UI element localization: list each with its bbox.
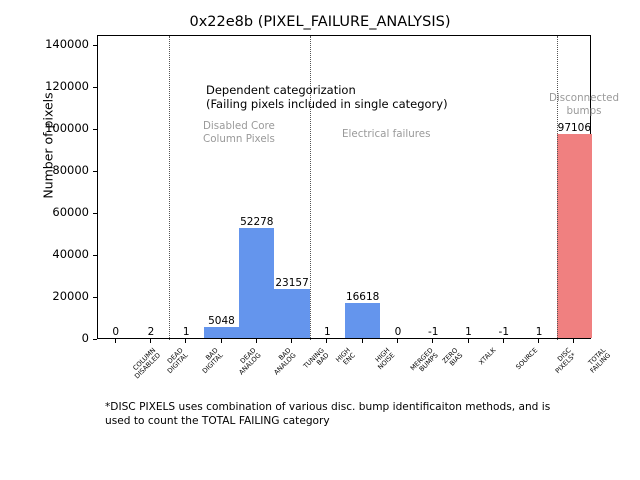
- x-tick-mark: [397, 339, 398, 343]
- figure-canvas: 0x22e8b (PIXEL_FAILURE_ANALYSIS) Number …: [0, 0, 640, 480]
- x-tick-label: XTALK: [477, 347, 496, 366]
- bar: [557, 134, 592, 338]
- x-tick-label: HIGHNOISE: [372, 347, 396, 371]
- y-tick-label: 120000: [9, 79, 89, 93]
- x-tick-mark: [150, 339, 151, 343]
- x-tick-mark: [468, 339, 469, 343]
- y-tick-label: 140000: [9, 37, 89, 51]
- category-divider-line: [557, 36, 558, 340]
- x-tick-label: ZEROBIAS: [442, 347, 465, 370]
- annotation-electrical-failures: Electrical failures: [342, 128, 431, 141]
- y-tick-label: 60000: [9, 205, 89, 219]
- bar-value-label: 1: [297, 326, 357, 338]
- bar-value-label: 1: [156, 326, 216, 338]
- x-tick-label: COLUMNDISABLED: [128, 347, 162, 381]
- x-tick-label: SOURCE: [515, 347, 539, 371]
- x-tick-mark: [326, 339, 327, 343]
- x-tick-mark: [185, 339, 186, 343]
- x-tick-label: TOTALFAILING: [585, 347, 613, 375]
- bar-value-label: 23157: [262, 277, 322, 289]
- y-tick-label: 20000: [9, 289, 89, 303]
- x-tick-mark: [432, 339, 433, 343]
- plot-inner: 021504852278231571166180-11-1197106: [98, 36, 590, 338]
- x-tick-mark: [115, 339, 116, 343]
- x-tick-label: DEADDIGITAL: [161, 347, 189, 375]
- y-tick-mark: [93, 339, 97, 340]
- x-tick-label: BADDIGITAL: [197, 347, 225, 375]
- x-tick-label: DEADANALOG: [233, 347, 263, 377]
- category-divider-line: [169, 36, 170, 340]
- footnote-text: *DISC PIXELS uses combination of various…: [105, 400, 560, 428]
- x-tick-label: BADANALOG: [268, 347, 298, 377]
- y-tick-label: 0: [9, 331, 89, 345]
- x-tick-mark: [291, 339, 292, 343]
- annotation-disabled-core-column-pixels: Disabled Core Column Pixels: [203, 120, 275, 146]
- bar-value-label: 16618: [333, 291, 393, 303]
- x-tick-label: HIGHENC: [335, 347, 357, 369]
- x-tick-mark: [538, 339, 539, 343]
- x-tick-mark: [503, 339, 504, 343]
- x-tick-label: DISCPIXELS*: [550, 347, 578, 375]
- x-tick-mark: [573, 339, 574, 343]
- annotation-dependent-categorization: Dependent categorization (Failing pixels…: [206, 83, 448, 112]
- bar-value-label: 97106: [544, 122, 604, 134]
- x-tick-mark: [221, 339, 222, 343]
- x-tick-label: TUNINGBAD: [303, 347, 331, 375]
- category-divider-line: [310, 36, 311, 340]
- bar-value-label: 5048: [192, 315, 252, 327]
- x-tick-label: MERGEDBUMPS: [409, 347, 439, 377]
- annotation-disconnected-bumps: Disconnected bumps: [539, 92, 629, 118]
- page-title: 0x22e8b (PIXEL_FAILURE_ANALYSIS): [0, 14, 640, 30]
- y-tick-label: 80000: [9, 163, 89, 177]
- bar-value-label: 52278: [227, 216, 287, 228]
- x-tick-mark: [362, 339, 363, 343]
- y-tick-label: 100000: [9, 121, 89, 135]
- x-tick-mark: [256, 339, 257, 343]
- y-axis-label: Number of pixels: [41, 36, 56, 256]
- y-tick-label: 40000: [9, 247, 89, 261]
- bar-value-label: 1: [509, 326, 569, 338]
- plot-area: 021504852278231571166180-11-1197106 Depe…: [97, 35, 591, 339]
